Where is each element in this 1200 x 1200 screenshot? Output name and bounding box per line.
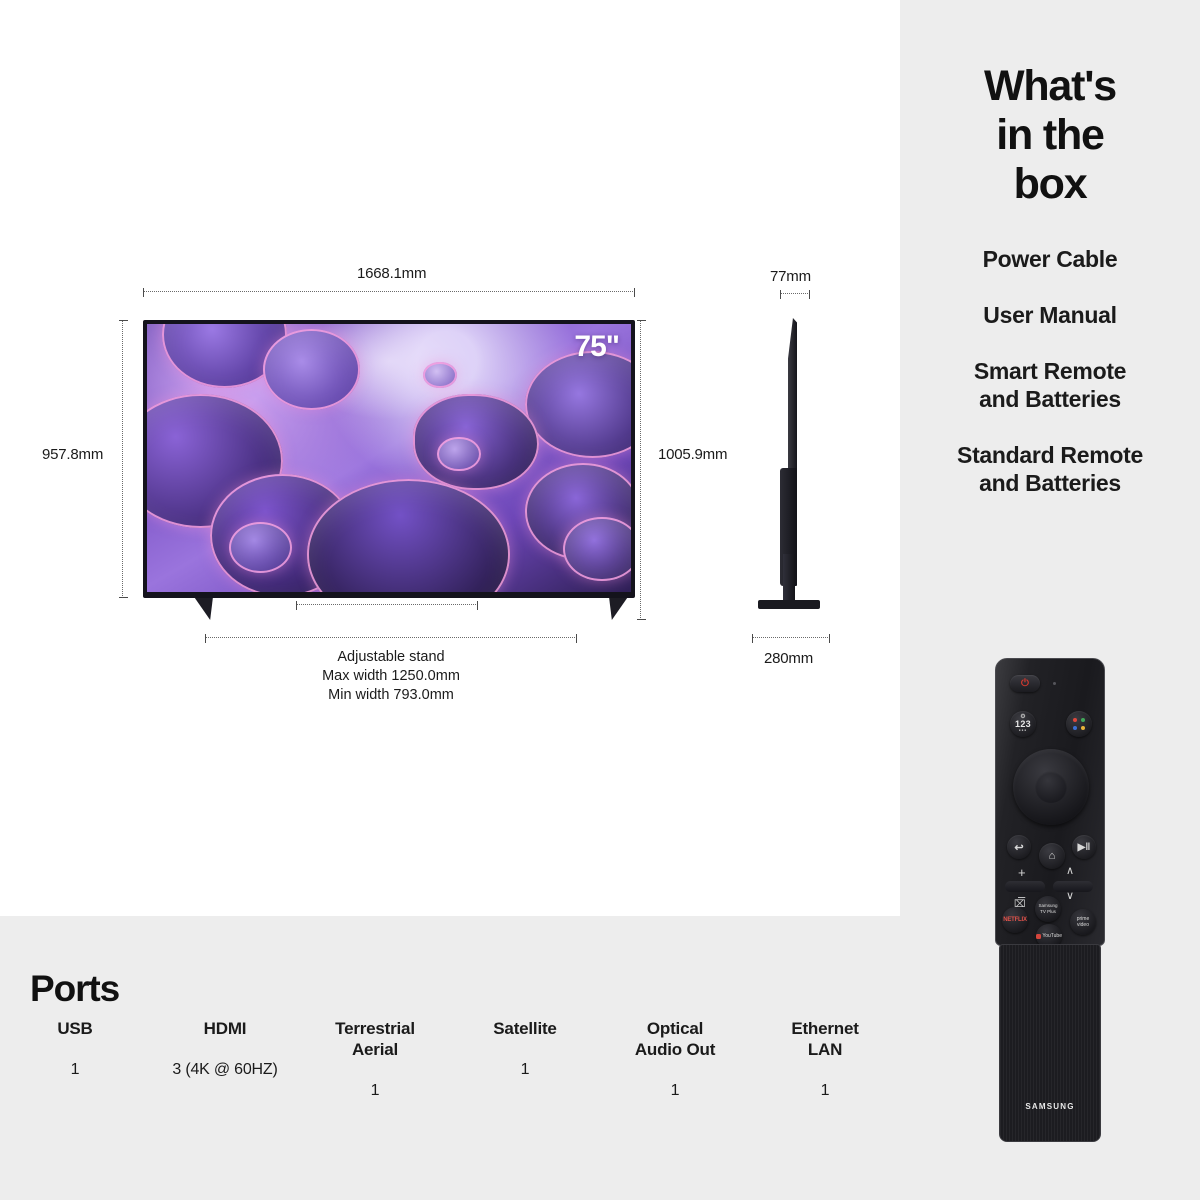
power-button[interactable]: ⏻	[1010, 675, 1040, 692]
product-spec-page: 75" 1668.1mm 957.8mm 1005.9mm Adjustable…	[0, 0, 1200, 1200]
panel-height-label: 957.8mm	[42, 446, 103, 463]
more-dots-icon: •••	[1019, 728, 1027, 735]
port-value: 1	[450, 1061, 600, 1079]
port-column-ethernet-lan: EthernetLAN 1	[750, 1018, 900, 1100]
front-width-label: 1668.1mm	[357, 265, 426, 282]
port-header: EthernetLAN	[750, 1018, 900, 1060]
bubble-shape	[525, 351, 631, 458]
side-depth-dimension-line	[780, 293, 810, 295]
port-header: USB	[0, 1018, 150, 1039]
youtube-play-icon	[1036, 934, 1041, 939]
side-base-depth-line	[752, 637, 830, 639]
screen-size-badge: 75"	[574, 330, 619, 364]
port-value: 3 (4K @ 60HZ)	[150, 1061, 300, 1079]
home-button[interactable]: ⌂	[1039, 843, 1065, 869]
box-title-line-2: in the	[900, 111, 1200, 160]
numeric-settings-button[interactable]: ⚙ 123 •••	[1010, 711, 1036, 737]
port-value: 1	[0, 1061, 150, 1079]
list-item: Smart Remoteand Batteries	[900, 357, 1200, 413]
total-height-dimension-line	[640, 320, 642, 620]
bubble-shape	[563, 517, 631, 581]
port-header: OpticalAudio Out	[600, 1018, 750, 1060]
numeric-label: 123	[1015, 721, 1031, 728]
port-header: Satellite	[450, 1018, 600, 1039]
tv-front-view: 75"	[143, 320, 635, 598]
whats-in-box-title: What's in the box	[900, 62, 1200, 209]
remote-lower-body	[999, 944, 1101, 1142]
list-item: Power Cable	[900, 245, 1200, 273]
prime-video-button[interactable]: primevideo	[1070, 909, 1096, 935]
side-depth-label: 77mm	[770, 268, 811, 285]
play-pause-button[interactable]: ▶‖	[1072, 835, 1096, 859]
box-title-line-1: What's	[900, 62, 1200, 111]
smart-remote: ⏻ ⚙ 123 ••• ↩ ⌂ ▶‖ + – ∧ ∨ ⌧	[995, 658, 1105, 1142]
stand-min-width-line	[296, 604, 478, 606]
ports-table: USB 1 HDMI 3 (4K @ 60HZ) TerrestrialAeri…	[0, 1018, 900, 1100]
panel-height-dimension-line	[122, 320, 124, 598]
samsung-tv-plus-button[interactable]: SamsungTV Plus	[1035, 896, 1061, 922]
directional-pad[interactable]	[1013, 749, 1089, 825]
total-height-label: 1005.9mm	[658, 446, 727, 463]
port-value: 1	[600, 1082, 750, 1100]
tv-stand-neck	[783, 554, 795, 602]
front-width-dimension-line	[143, 291, 635, 293]
list-item: Standard Remoteand Batteries	[900, 441, 1200, 497]
stand-max-width-line	[205, 637, 577, 639]
tv-stand-base	[758, 600, 820, 609]
samsung-wordmark: SAMSUNG	[995, 1102, 1105, 1111]
side-base-depth-label: 280mm	[764, 650, 813, 667]
port-column-satellite: Satellite 1	[450, 1018, 600, 1100]
bubble-shape	[437, 437, 481, 472]
port-value: 1	[750, 1082, 900, 1100]
stand-dimensions-note: Adjustable stand Max width 1250.0mm Min …	[205, 648, 577, 705]
stand-note-line-2: Max width 1250.0mm	[205, 667, 577, 686]
port-header: HDMI	[150, 1018, 300, 1039]
bubble-shape	[413, 394, 539, 490]
ports-title: Ports	[30, 968, 119, 1010]
stand-note-line-1: Adjustable stand	[205, 648, 577, 667]
channel-up-icon[interactable]: ∧	[1066, 864, 1074, 877]
bubble-shape	[263, 329, 360, 409]
port-header: TerrestrialAerial	[300, 1018, 450, 1060]
tv-screen-artwork: 75"	[147, 324, 631, 592]
port-column-usb: USB 1	[0, 1018, 150, 1100]
color-buttons[interactable]	[1066, 711, 1092, 737]
port-value: 1	[300, 1082, 450, 1100]
port-column-terrestrial-aerial: TerrestrialAerial 1	[300, 1018, 450, 1100]
channel-down-icon[interactable]: ∨	[1066, 889, 1074, 902]
list-item: User Manual	[900, 301, 1200, 329]
back-button[interactable]: ↩	[1007, 835, 1031, 859]
stand-note-line-3: Min width 793.0mm	[205, 686, 577, 705]
bubble-shape	[229, 522, 292, 573]
remote-upper-body: ⏻ ⚙ 123 ••• ↩ ⌂ ▶‖ + – ∧ ∨ ⌧	[995, 658, 1105, 946]
netflix-button[interactable]: NETFLIX	[1002, 907, 1028, 933]
tv-side-view	[770, 318, 830, 608]
color-dots-icon	[1073, 718, 1086, 731]
whats-in-box-list: Power Cable User Manual Smart Remoteand …	[900, 245, 1200, 525]
microphone-hole	[1053, 682, 1056, 685]
port-column-hdmi: HDMI 3 (4K @ 60HZ)	[150, 1018, 300, 1100]
volume-up-icon[interactable]: +	[1018, 865, 1026, 880]
youtube-label: YouTube	[1042, 933, 1062, 939]
port-column-optical-audio-out: OpticalAudio Out 1	[600, 1018, 750, 1100]
box-title-line-3: box	[900, 160, 1200, 209]
bubble-shape	[423, 362, 457, 389]
